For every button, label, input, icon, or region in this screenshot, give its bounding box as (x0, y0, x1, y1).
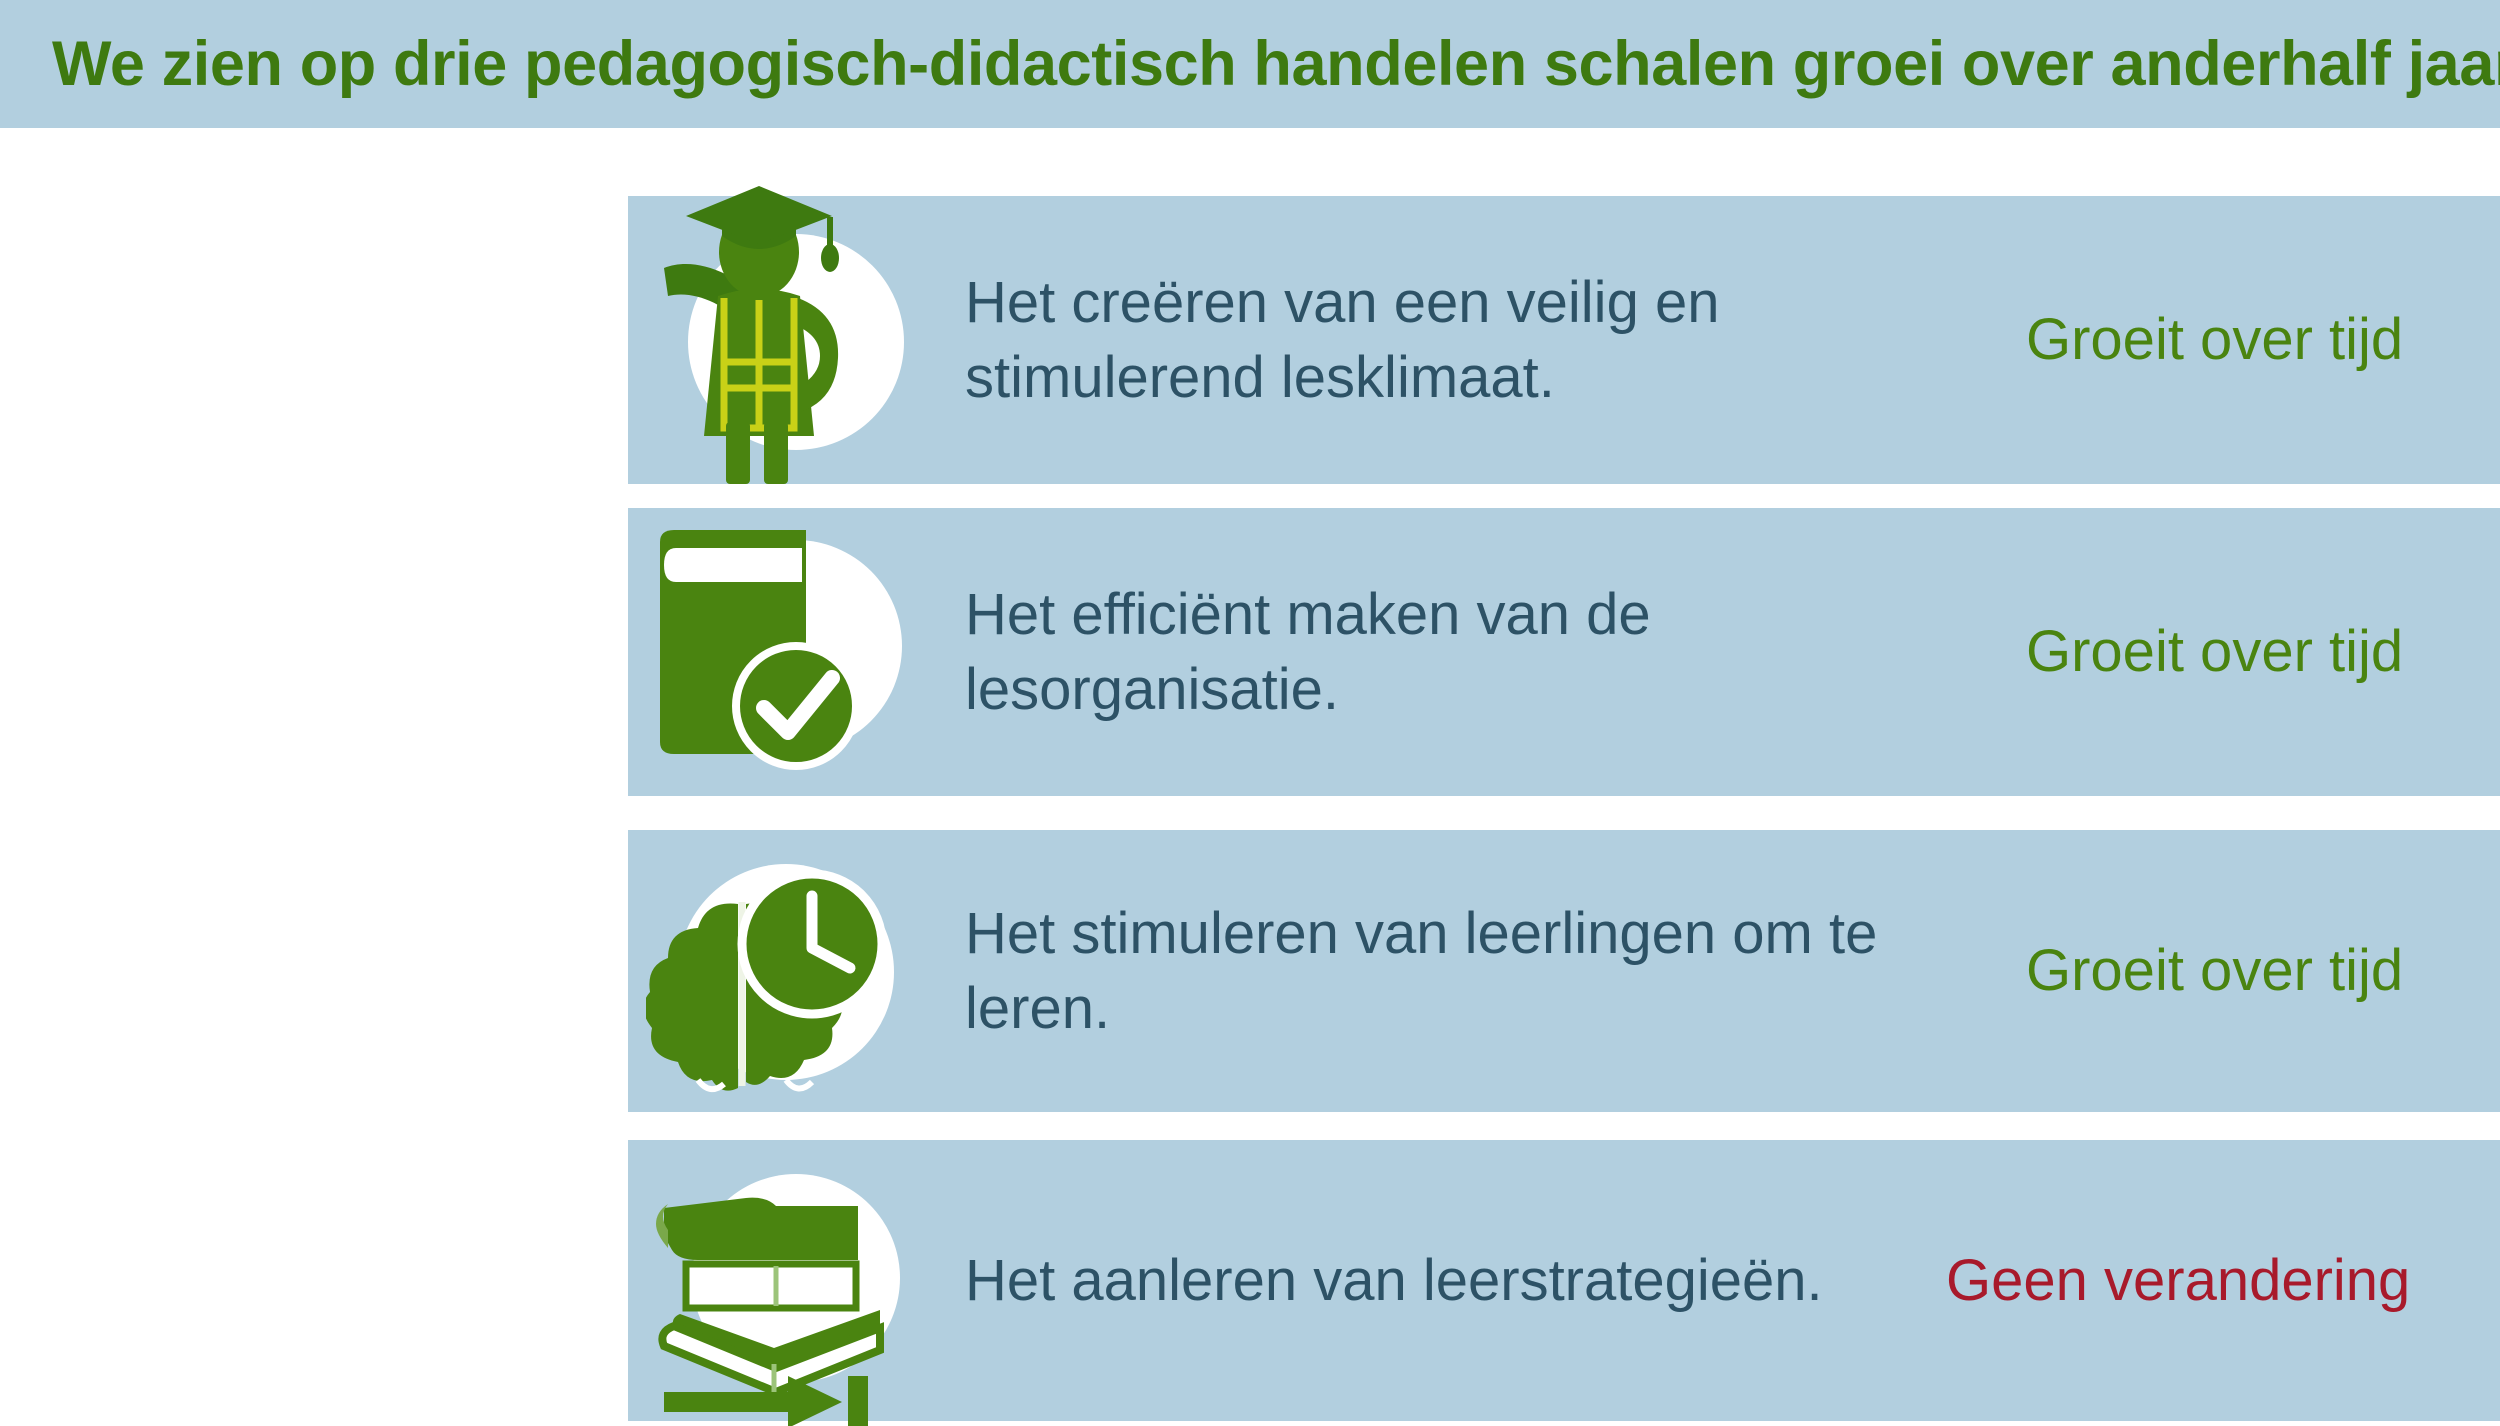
row-icon-cell (628, 508, 928, 796)
graduate-person-icon (646, 174, 916, 484)
book-stack-arrow-icon (646, 1154, 916, 1426)
table-row: Het stimuleren van leerlingen om te lere… (628, 830, 2500, 1112)
status-badge: Groeit over tijd (2026, 305, 2403, 375)
table-row: Het creëren van een veilig en stimuleren… (628, 196, 2500, 484)
row-label-cell: Het stimuleren van leerlingen om te lere… (965, 830, 1985, 1112)
row-label-cell: Het aanleren van leerstrategieën. (965, 1140, 1905, 1421)
book-check-icon (646, 520, 916, 784)
row-icon-cell (628, 830, 928, 1112)
brain-clock-icon (646, 848, 916, 1110)
row-status-cell: Groeit over tijd (2026, 196, 2500, 484)
row-label-cell: Het creëren van een veilig en stimuleren… (965, 196, 1985, 484)
row-status-cell: Groeit over tijd (2026, 830, 2500, 1112)
row-icon-cell (628, 1140, 928, 1421)
scale-rows-list: Het creëren van een veilig en stimuleren… (0, 0, 2500, 1421)
scale-label: Het efficiënt maken van de lesorganisati… (965, 577, 1985, 728)
status-badge: Groeit over tijd (2026, 936, 2403, 1006)
row-status-cell: Groeit over tijd (2026, 508, 2500, 796)
scale-label: Het stimuleren van leerlingen om te lere… (965, 896, 1985, 1047)
row-icon-cell (628, 196, 928, 484)
row-status-cell: Geen verandering (1946, 1140, 2500, 1421)
scale-label: Het aanleren van leerstrategieën. (965, 1243, 1823, 1318)
status-badge: Groeit over tijd (2026, 617, 2403, 687)
scale-label: Het creëren van een veilig en stimuleren… (965, 265, 1985, 416)
table-row: Het efficiënt maken van de lesorganisati… (628, 508, 2500, 796)
status-badge: Geen verandering (1946, 1246, 2410, 1316)
row-label-cell: Het efficiënt maken van de lesorganisati… (965, 508, 1985, 796)
table-row: Het aanleren van leerstrategieën. Geen v… (628, 1140, 2500, 1421)
